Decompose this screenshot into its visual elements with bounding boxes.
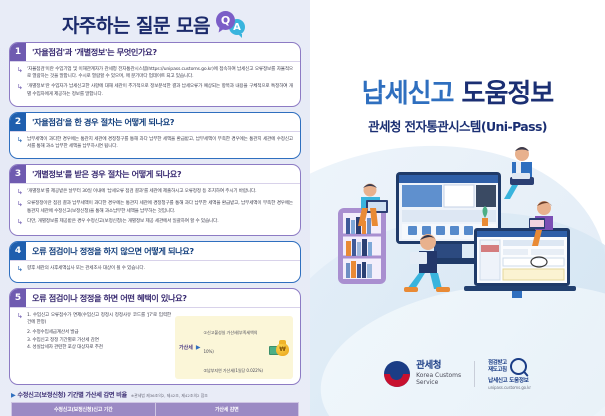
footer-logos: 관세청 Korea Customs Service 점검받고 재도고침 납세신고… (310, 358, 605, 390)
faq-answer-line: ↳ '개별정보'란 수입자가 납세신고한 사항에 대해 세관이 추가적으로 정보… (17, 83, 293, 97)
unipass-badge-line1: 점검받고 (488, 360, 507, 366)
faq-answer-text: 향후 세관의 사후세액심사 또는 관세조사 대상이 될 수 있습니다. (27, 265, 145, 272)
faq-question-row: 4 오류 점검이나 정정을 하지 않으면 어떻게 되나요? (10, 242, 300, 261)
arrow-bullet-icon: ↳ (17, 219, 24, 227)
faq-answer-line: ↳ 향후 세관의 사후세액심사 또는 관세조사 대상이 될 수 있습니다. (17, 265, 293, 274)
faq-question-text: 오류 점검이나 정정을 하면 어떤 혜택이 있나요? (26, 289, 300, 307)
faq-card-4: 4 오류 점검이나 정정을 하지 않으면 어떻게 되나요? ↳ 향후 세관의 사… (9, 241, 301, 283)
qa-speech-bubble-icon: Q A (216, 11, 248, 37)
faq-answer-text: '개별정보'란 수입자가 납세신고한 사항에 대해 세관이 추가적으로 정보분석… (27, 83, 293, 97)
table-title: ▶ 수정신고(보정신청) 기간별 가산세 감면 비율 (11, 390, 127, 399)
faq-benefit-item-2: 2. 수정수입세금계산서 발급 (17, 329, 171, 336)
arrow-bullet-icon: ↳ (17, 137, 24, 145)
faq-answer-body: ↳ 향후 세관의 사후세액심사 또는 관세조사 대상이 될 수 있습니다. (10, 261, 300, 278)
arrow-bullet-icon: ↳ (17, 84, 24, 92)
faq-answer-text: '자율점검'이란 수입기업 및 이해관계자가 관세청 전자통관시스템(https… (27, 66, 293, 80)
faq-number: 3 (10, 165, 26, 183)
kcs-name-en-line1: Korea Customs (416, 372, 461, 380)
faq-question-row: 3 '개별정보'를 받은 경우 절차는 어떻게 되나요? (10, 165, 300, 184)
faq-answer-text: 다만, 개별정보를 제공받은 경우 수정신고(보정신청)는 개별정보 제공 세관… (27, 218, 219, 225)
callout-line-1: ①신고불성실 가산세(부족세액의 10%) (203, 330, 257, 354)
taegeuk-icon (384, 361, 410, 387)
arrow-bullet-icon: ↳ (17, 67, 24, 75)
faq-number: 1 (10, 43, 26, 61)
arrow-bullet-icon: ↳ (17, 266, 24, 274)
kcs-name-en-line2: Service (416, 379, 461, 387)
column-header-reduction: 가산세 감면 (155, 403, 299, 416)
faq-header-title: 자주하는 질문 모음 (62, 11, 210, 38)
faq-question-text: 오류 점검이나 정정을 하지 않으면 어떻게 되나요? (26, 242, 300, 260)
table-title-row: ▶ 수정신고(보정신청) 기간별 가산세 감면 비율 ※관세법 제36조의2, … (11, 390, 299, 399)
faq-card-3: 3 '개별정보'를 받은 경우 절차는 어떻게 되나요? ↳ '개별정보'를 제… (9, 164, 301, 235)
faq-answer-body: ↳ 납부세액이 과다한 경우에는 통관지 세관에 경정청구를 통해 과다 납부한… (10, 132, 300, 154)
faq-list: 1 '자율점검'과 '개별정보'는 무엇인가요? ↳ '자율점검'이란 수입기업… (0, 42, 310, 416)
unipass-badge-text: 점검받고 재도고침 (488, 360, 507, 373)
faq-answer-body: ↳ '개별정보'를 제공받은 날부터 30일 이내에 '납세오류 점검 결과'를… (10, 184, 300, 230)
unipass-service-name: 납세신고 도움정보 (488, 376, 528, 384)
faq-number: 4 (10, 242, 26, 260)
faq-benefit-item-3: 3. 수입신고 정정 기간별로 가산세 감면 (17, 337, 171, 344)
brochure-page: 자주하는 질문 모음 Q A 1 '자율점검'과 '개별정보'는 무엇인가요? … (0, 0, 605, 416)
kcs-logo-text: 관세청 Korea Customs Service (416, 361, 461, 386)
faq-panel: 자주하는 질문 모음 Q A 1 '자율점검'과 '개별정보'는 무엇인가요? … (0, 0, 310, 416)
arrow-bullet-icon: ↳ (17, 313, 24, 321)
faq-question-text: '개별정보'를 받은 경우 절차는 어떻게 되나요? (26, 165, 300, 183)
faq-answer-line: ↳ 다만, 개별정보를 제공받은 경우 수정신고(보정신청)는 개별정보 제공 … (17, 218, 293, 227)
callout-label: 가산세 (179, 344, 193, 351)
faq-question-row: 2 '자율점검'을 한 경우 절차는 어떻게 되나요? (10, 113, 300, 132)
faq-answer-body: ↳ 1. 수입신고 오류점수가 면제(수입신고 정정시 정정사유 코드를 'J7… (10, 308, 300, 380)
faq-answer-line: ↳ 오류정정이란 점검 결과 납부세액이 과다한 경우에는 통관지 세관에 경정… (17, 200, 293, 214)
callout-line-2: ②납부지연 가산세(1일당 0.022%) (203, 368, 262, 373)
faq-benefit-item-1: 1. 수입신고 오류점수가 면제(수입신고 정정시 정정사유 코드를 'J7'로… (27, 312, 171, 326)
faq-answer-text: 오류정정이란 점검 결과 납부세액이 과다한 경우에는 통관지 세관에 경정청구… (27, 200, 293, 214)
column-header-period: 수정신고(보정신청)신고 기간 (12, 403, 156, 416)
cover-title: 납세신고 도움정보 (310, 80, 605, 109)
cover-subtitle: 관세청 전자통관시스템(Uni-Pass) (310, 116, 605, 135)
cover-title-part-1: 납세신고 (362, 79, 454, 109)
arrow-bullet-icon: ↳ (17, 201, 24, 209)
penalty-reduction-table-block: ▶ 수정신고(보정신청) 기간별 가산세 감면 비율 ※관세법 제36조의2, … (9, 390, 301, 416)
faq-number: 2 (10, 113, 26, 131)
unipass-badge-line2: 재도고침 (488, 367, 507, 373)
unipass-url: unipass.customs.go.kr (488, 385, 531, 390)
people-with-computers-illustration (324, 146, 592, 321)
korea-customs-service-logo: 관세청 Korea Customs Service (384, 361, 461, 387)
faq-header: 자주하는 질문 모음 Q A (0, 0, 310, 42)
faq-question-text: '자율점검'을 한 경우 절차는 어떻게 되나요? (26, 113, 300, 131)
cover-title-block: 납세신고 도움정보 관세청 전자통관시스템(Uni-Pass) (310, 80, 605, 135)
money-bag-icon (269, 340, 289, 356)
footer-divider (474, 361, 475, 387)
arrow-bullet-icon: ↳ (17, 189, 24, 197)
magnifier-icon (510, 358, 527, 375)
faq-benefit-item-4: 4. 성실납세자 관련한 포상 대상자로 추천 (17, 344, 171, 351)
faq-number: 5 (10, 289, 26, 307)
callout-arrow-icon: ▶ (196, 344, 201, 351)
table-lead-arrow-icon: ▶ (11, 392, 15, 399)
faq-card-5: 5 오류 점검이나 정정을 하면 어떤 혜택이 있나요? ↳ 1. 수입신고 오… (9, 288, 301, 385)
faq-answer-line: ↳ 1. 수입신고 오류점수가 면제(수입신고 정정시 정정사유 코드를 'J7… (17, 312, 171, 326)
question-bubble-icon: Q (216, 11, 235, 30)
penalty-tax-callout: 가산세 ▶ ①신고불성실 가산세(부족세액의 10%) ②납부지연 가산세(1일… (175, 316, 293, 379)
table-header-row: 수정신고(보정신청)신고 기간 가산세 감면 (12, 403, 299, 416)
bag-icon (276, 343, 289, 356)
faq-answer-line: ↳ '개별정보'를 제공받은 날부터 30일 이내에 '납세오류 점검 결과'를… (17, 188, 293, 197)
cover-panel: 납세신고 도움정보 관세청 전자통관시스템(Uni-Pass) (310, 0, 605, 416)
table-note: ※관세법 제36조의2, 제42조, 제42조의2 참조 (131, 393, 208, 399)
faq-answer-line: ↳ '자율점검'이란 수입기업 및 이해관계자가 관세청 전자통관시스템(htt… (17, 66, 293, 80)
faq-answer-line: ↳ 납부세액이 과다한 경우에는 통관지 세관에 경정청구를 통해 과다 납부한… (17, 136, 293, 150)
faq-answer-text: '개별정보'를 제공받은 날부터 30일 이내에 '납세오류 점검 결과'를 세… (27, 188, 256, 195)
faq-question-row: 1 '자율점검'과 '개별정보'는 무엇인가요? (10, 43, 300, 62)
faq-card-2: 2 '자율점검'을 한 경우 절차는 어떻게 되나요? ↳ 납부세액이 과다한 … (9, 112, 301, 159)
faq-answer-body: ↳ '자율점검'이란 수입기업 및 이해관계자가 관세청 전자통관시스템(htt… (10, 62, 300, 101)
unipass-logo: 점검받고 재도고침 납세신고 도움정보 unipass.customs.go.k… (488, 358, 531, 390)
unipass-badge: 점검받고 재도고침 (488, 358, 527, 375)
table-title-text: 수정신고(보정신청) 기간별 가산세 감면 비율 (17, 392, 127, 399)
faq-card-1: 1 '자율점검'과 '개별정보'는 무엇인가요? ↳ '자율점검'이란 수입기업… (9, 42, 301, 107)
penalty-reduction-table: 수정신고(보정신청)신고 기간 가산세 감면 신고납부한 날로부터 6개월 이내… (11, 402, 299, 416)
cover-title-part-2: 도움정보 (462, 79, 554, 109)
faq-question-text: '자율점검'과 '개별정보'는 무엇인가요? (26, 43, 300, 61)
kcs-name-ko: 관세청 (416, 361, 461, 371)
faq-answer-text: 납부세액이 과다한 경우에는 통관지 세관에 경정청구를 통해 과다 납부한 세… (27, 136, 293, 150)
faq-question-row: 5 오류 점검이나 정정을 하면 어떤 혜택이 있나요? (10, 289, 300, 308)
